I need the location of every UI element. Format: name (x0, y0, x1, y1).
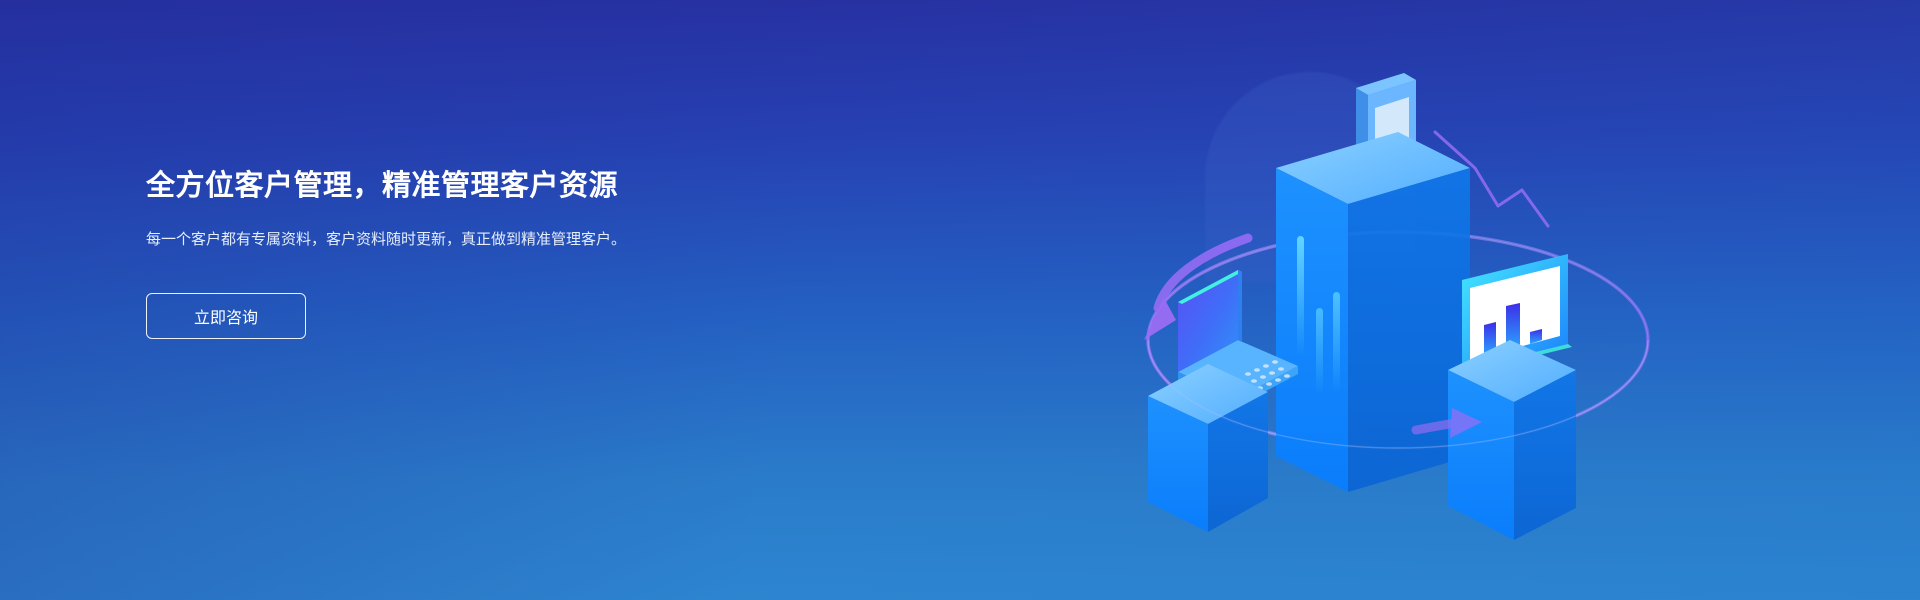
hero-copy-block: 全方位客户管理，精准管理客户资源 每一个客户都有专属资料，客户资料随时更新，真正… (146, 168, 766, 339)
page-title: 全方位客户管理，精准管理客户资源 (146, 168, 766, 204)
illustration-svg (1130, 40, 1670, 560)
left-pillar (1148, 270, 1298, 532)
consult-now-button[interactable]: 立即咨询 (146, 293, 306, 339)
hero-subtitle: 每一个客户都有专属资料，客户资料随时更新，真正做到精准管理客户。 (146, 228, 732, 253)
hero-illustration (1130, 40, 1670, 560)
hero-banner: 全方位客户管理，精准管理客户资源 每一个客户都有专属资料，客户资料随时更新，真正… (0, 0, 1920, 600)
right-pillar (1448, 254, 1576, 540)
